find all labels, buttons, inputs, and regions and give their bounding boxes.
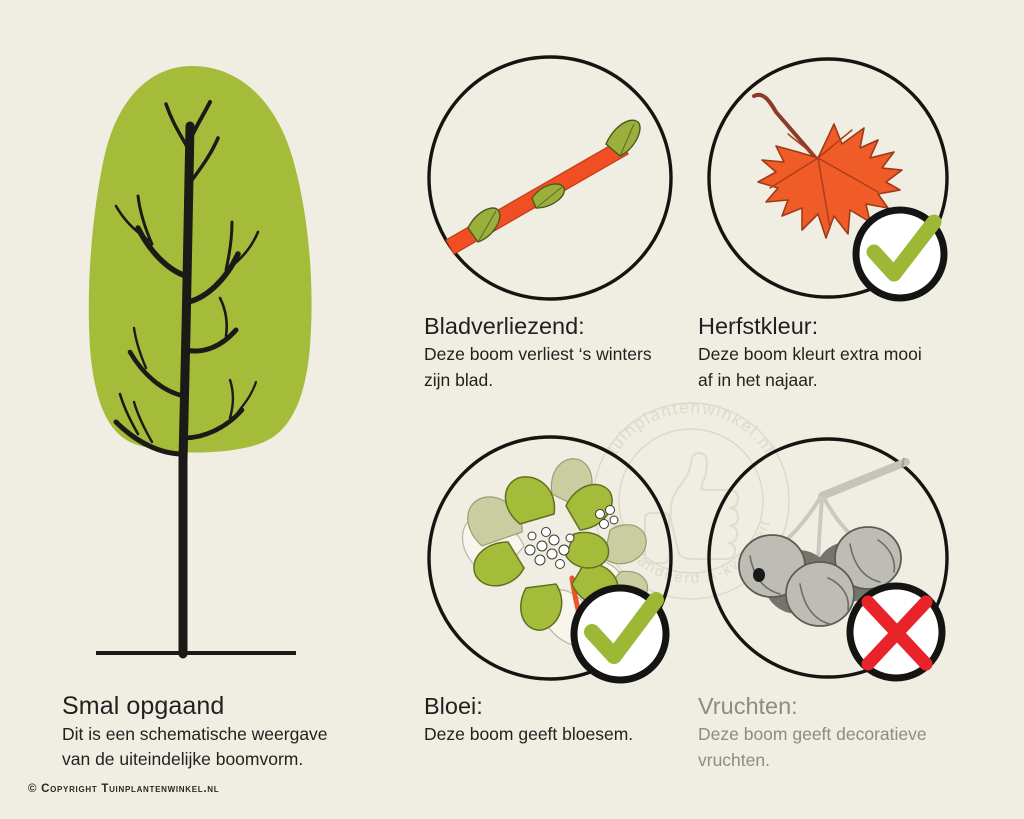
feature-body-bladverliezend-line1: Deze boom verliest ‘s winters bbox=[424, 342, 700, 367]
blossom-flower-icon bbox=[424, 432, 676, 684]
autumn-maple-leaf-icon bbox=[702, 52, 954, 304]
feature-bladverliezend: Bladverliezend: Deze boom verliest ‘s wi… bbox=[424, 52, 714, 393]
feature-body-vruchten-line2: vruchten. bbox=[698, 748, 974, 773]
feature-body-herfstkleur-line2: af in het najaar. bbox=[698, 368, 974, 393]
cross-badge bbox=[850, 586, 942, 678]
feature-title-bladverliezend: Bladverliezend: bbox=[424, 312, 714, 340]
feature-body-bladverliezend-line2: zijn blad. bbox=[424, 368, 700, 393]
feature-herfstkleur: Herfstkleur: Deze boom kleurt extra mooi… bbox=[698, 52, 988, 393]
feature-title-bloei: Bloei: bbox=[424, 692, 714, 720]
tree-caption: Smal opgaand Dit is een schematische wee… bbox=[0, 692, 410, 771]
feature-body-vruchten-line1: Deze boom geeft decoratieve bbox=[698, 722, 974, 747]
budding-twig-icon bbox=[424, 52, 676, 304]
tree-shape-panel: Smal opgaand Dit is een schematische wee… bbox=[0, 0, 410, 819]
infographic-canvas: tuinplantenwinkel.nl gegarandeerd A-kwal… bbox=[0, 0, 1024, 819]
feature-grid: Bladverliezend: Deze boom verliest ‘s wi… bbox=[410, 0, 1024, 819]
tree-shape-description-line2: van de uiteindelijke boomvorm. bbox=[62, 747, 372, 772]
feature-body-herfstkleur-line1: Deze boom kleurt extra mooi bbox=[698, 342, 974, 367]
feature-title-herfstkleur: Herfstkleur: bbox=[698, 312, 988, 340]
check-badge bbox=[574, 588, 666, 680]
feature-title-vruchten: Vruchten: bbox=[698, 692, 988, 720]
berry-cluster-icon bbox=[702, 432, 954, 684]
tree-shape-description-line1: Dit is een schematische weergave bbox=[62, 722, 372, 747]
feature-body-bloei-line1: Deze boom geeft bloesem. bbox=[424, 722, 700, 747]
feature-vruchten: Vruchten: Deze boom geeft decoratieve vr… bbox=[698, 432, 988, 773]
tree-shape-title: Smal opgaand bbox=[62, 692, 410, 721]
feature-bloei: Bloei: Deze boom geeft bloesem. bbox=[424, 432, 714, 748]
copyright-notice: © Copyright Tuinplantenwinkel.nl bbox=[28, 783, 219, 795]
check-badge bbox=[856, 210, 944, 298]
narrow-upright-tree-icon bbox=[20, 30, 390, 670]
